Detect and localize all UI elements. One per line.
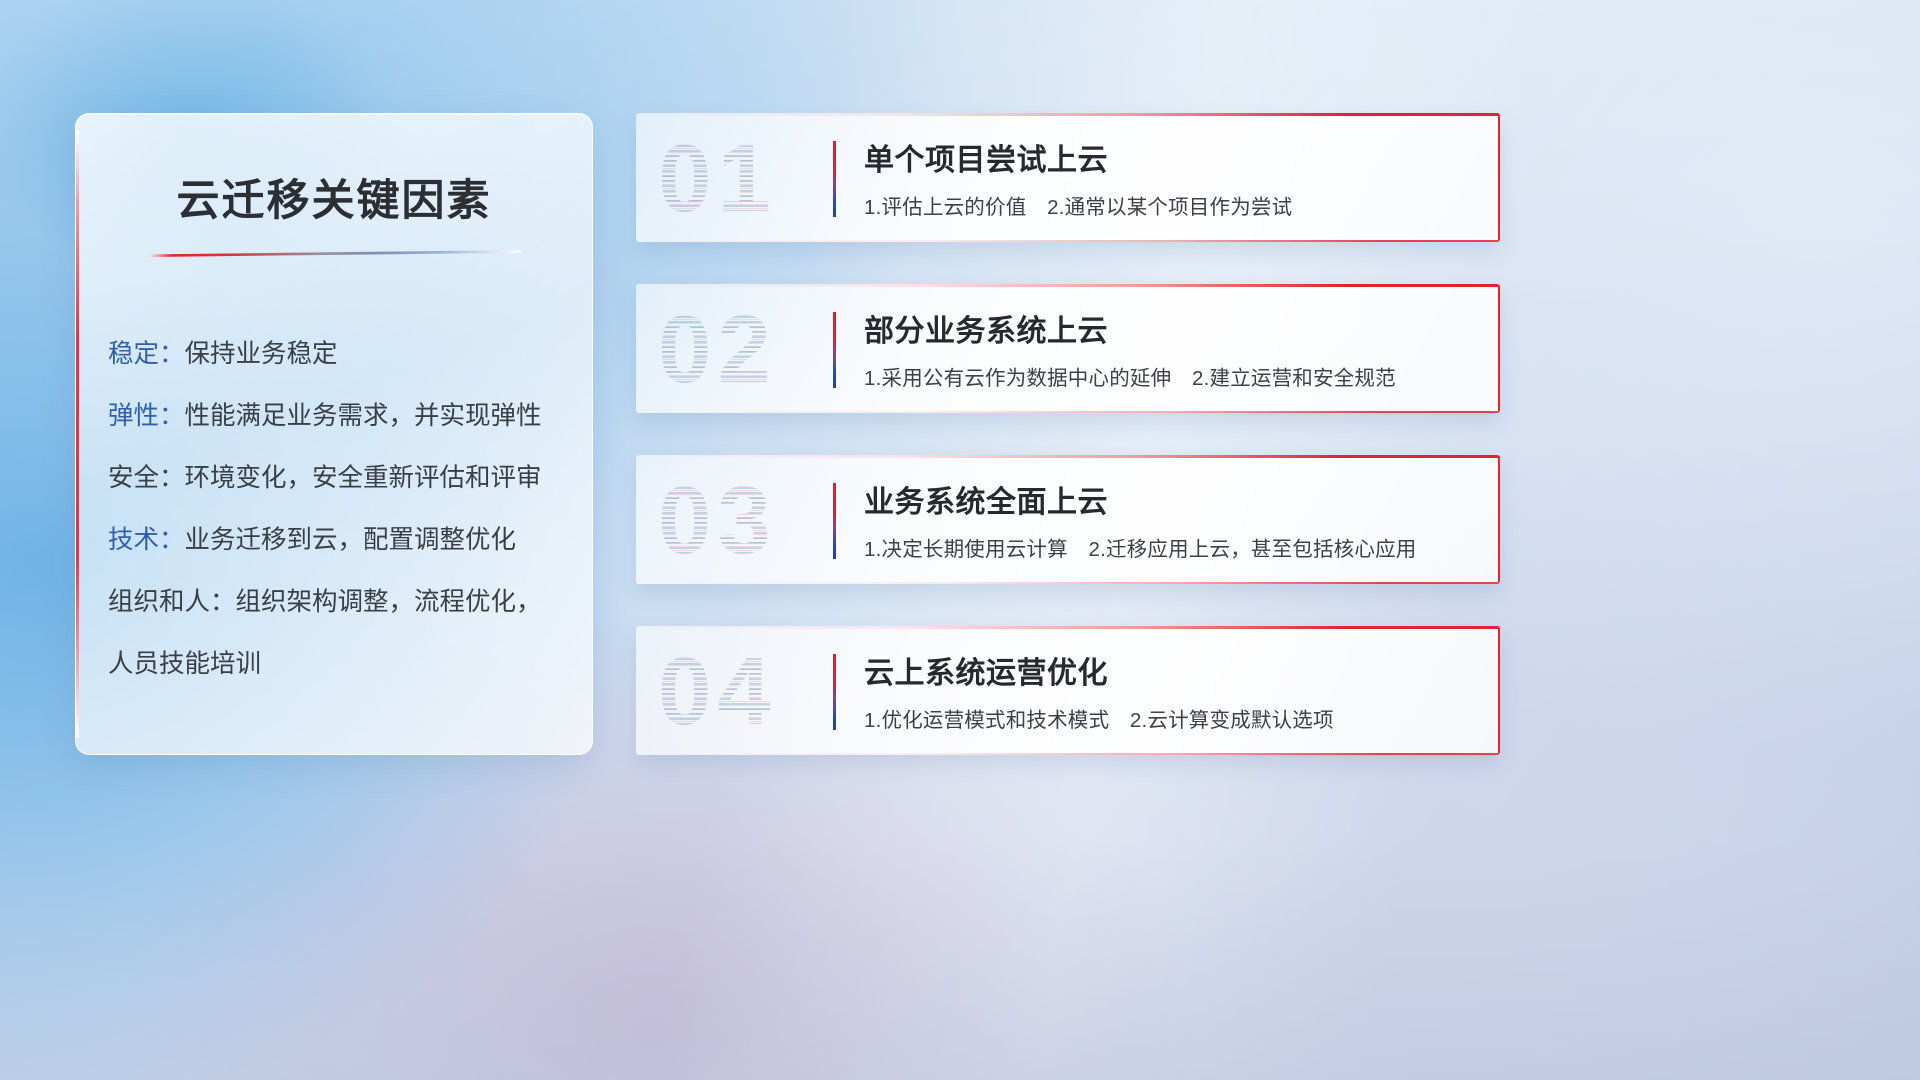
list-item-value: 环境变化，安全重新评估和评审 [185, 464, 542, 492]
list-item-value: 组织架构调整，流程优化， [236, 588, 542, 616]
stage-number: 04 [658, 638, 828, 746]
card-right-accent-line [1498, 113, 1501, 242]
card-top-accent-line [636, 455, 1500, 458]
stage-card-04[interactable]: 04 04 云上系统运营优化 1.优化运营模式和技术模式 2.云计算变成默认选项 [636, 626, 1500, 755]
stage-card-03[interactable]: 03 03 业务系统全面上云 1.决定长期使用云计算 2.迁移应用上云，甚至包括… [636, 455, 1500, 584]
list-item-value: 业务迁移到云，配置调整优化 [185, 526, 517, 554]
card-bottom-accent-line [636, 411, 1500, 413]
card-title: 单个项目尝试上云 [864, 135, 1470, 179]
list-item: 组织和人：组织架构调整，流程优化， [108, 571, 592, 633]
card-bottom-accent-line [636, 240, 1500, 242]
stage-card-02[interactable]: 02 02 部分业务系统上云 1.采用公有云作为数据中心的延伸 2.建立运营和安… [636, 284, 1500, 413]
card-title: 部分业务系统上云 [864, 306, 1470, 350]
list-item-continuation: 人员技能培训 [108, 633, 592, 695]
list-item-key: 安全： [108, 464, 185, 492]
list-item-value: 保持业务稳定 [185, 340, 338, 368]
card-description: 1.评估上云的价值 2.通常以某个项目作为尝试 [864, 190, 1470, 220]
card-bottom-accent-line [636, 582, 1500, 584]
key-factors-list: 稳定：保持业务稳定 弹性：性能满足业务需求，并实现弹性 安全：环境变化，安全重新… [108, 323, 592, 695]
card-divider-line [833, 483, 836, 559]
page-title: 云迁移关键因素 [76, 166, 592, 228]
card-top-accent-line [636, 113, 1500, 116]
card-description: 1.决定长期使用云计算 2.迁移应用上云，甚至包括核心应用 [864, 532, 1470, 562]
list-item-value: 人员技能培训 [108, 650, 261, 678]
card-title: 云上系统运营优化 [864, 648, 1470, 692]
list-item-key: 弹性： [108, 402, 185, 430]
stage-card-01[interactable]: 01 01 单个项目尝试上云 1.评估上云的价值 2.通常以某个项目作为尝试 [636, 113, 1500, 242]
card-top-accent-line [636, 284, 1500, 287]
card-description: 1.优化运营模式和技术模式 2.云计算变成默认选项 [864, 703, 1470, 733]
background-bottom-shade [0, 840, 1920, 1080]
card-right-accent-line [1498, 455, 1501, 584]
card-divider-line [833, 312, 836, 388]
stage-number: 01 [658, 125, 828, 233]
title-underline-rule [146, 250, 522, 257]
card-top-accent-line [636, 626, 1500, 629]
card-right-accent-line [1498, 626, 1501, 755]
card-divider-line [833, 654, 836, 730]
list-item: 安全：环境变化，安全重新评估和评审 [108, 447, 592, 509]
card-content: 业务系统全面上云 1.决定长期使用云计算 2.迁移应用上云，甚至包括核心应用 [864, 477, 1470, 562]
card-content: 单个项目尝试上云 1.评估上云的价值 2.通常以某个项目作为尝试 [864, 135, 1470, 220]
key-factors-panel: 云迁移关键因素 稳定：保持业务稳定 弹性：性能满足业务需求，并实现弹性 安全：环… [75, 113, 593, 755]
list-item: 稳定：保持业务稳定 [108, 323, 592, 385]
card-content: 部分业务系统上云 1.采用公有云作为数据中心的延伸 2.建立运营和安全规范 [864, 306, 1470, 391]
list-item: 技术：业务迁移到云，配置调整优化 [108, 509, 592, 571]
list-item: 弹性：性能满足业务需求，并实现弹性 [108, 385, 592, 447]
card-divider-line [833, 141, 836, 217]
card-bottom-accent-line [636, 753, 1500, 755]
stage-number: 02 [658, 296, 828, 404]
list-item-key: 技术： [108, 526, 185, 554]
card-title: 业务系统全面上云 [864, 477, 1470, 521]
card-description: 1.采用公有云作为数据中心的延伸 2.建立运营和安全规范 [864, 361, 1470, 391]
list-item-key: 组织和人： [108, 588, 236, 616]
stage-number: 03 [658, 467, 828, 575]
card-content: 云上系统运营优化 1.优化运营模式和技术模式 2.云计算变成默认选项 [864, 648, 1470, 733]
card-right-accent-line [1498, 284, 1501, 413]
list-item-key: 稳定： [108, 340, 185, 368]
migration-stage-card-list: 01 01 单个项目尝试上云 1.评估上云的价值 2.通常以某个项目作为尝试 0… [636, 113, 1500, 797]
list-item-value: 性能满足业务需求，并实现弹性 [185, 402, 542, 430]
